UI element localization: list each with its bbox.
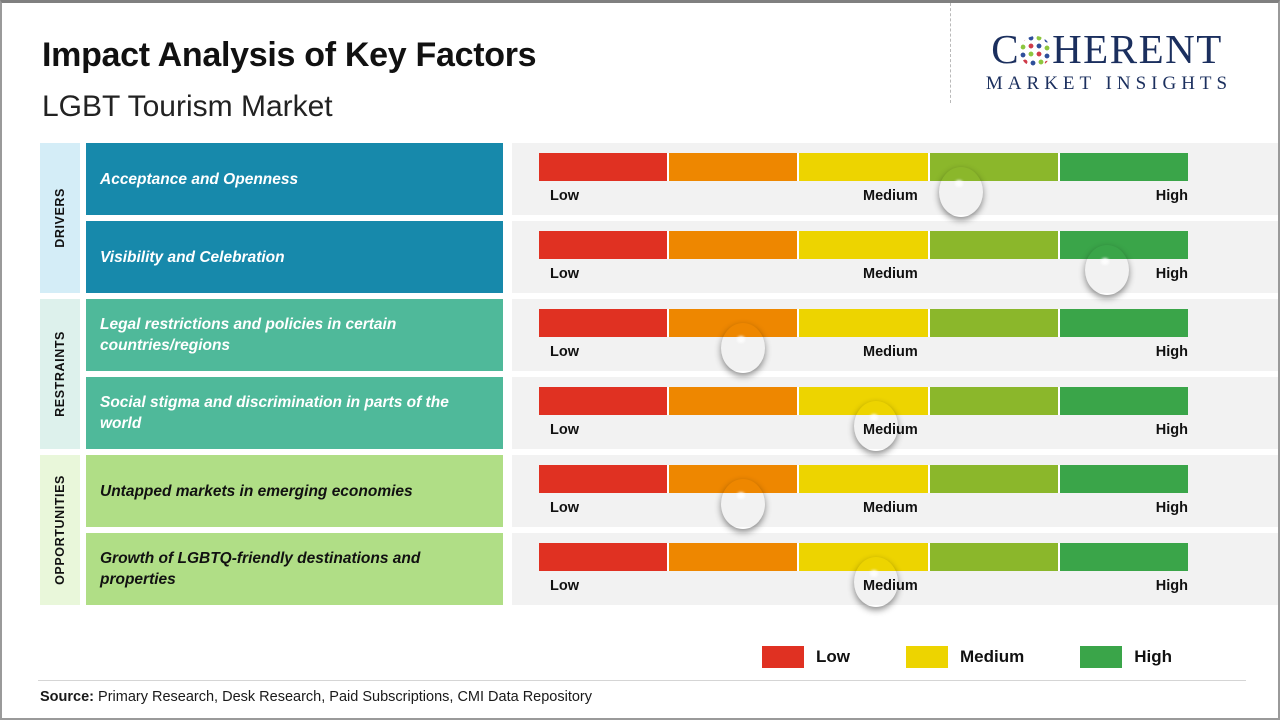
- scale-label-high: High: [1156, 578, 1188, 594]
- gauge-scale-labels: Low Medium High: [539, 500, 1239, 520]
- page-subtitle: LGBT Tourism Market: [42, 90, 333, 124]
- impact-matrix: DRIVERS Acceptance and Openness: [2, 143, 1278, 611]
- legend-label-high: High: [1134, 647, 1172, 667]
- gauge-scale-labels: Low Medium High: [539, 188, 1239, 208]
- impact-gauge: Low Medium High: [512, 299, 1278, 371]
- scale-label-low: Low: [550, 422, 579, 438]
- gauge-segment-low: [539, 465, 669, 493]
- gauge-bar: [539, 465, 1188, 493]
- logo-divider: [950, 3, 951, 103]
- scale-label-high: High: [1156, 500, 1188, 516]
- impact-gauge: Low Medium High: [512, 533, 1278, 605]
- header: Impact Analysis of Key Factors LGBT Tour…: [2, 3, 1278, 133]
- gauge-scale-labels: Low Medium High: [539, 266, 1239, 286]
- impact-gauge: Low Medium High: [512, 377, 1278, 449]
- group-label-text: OPPORTUNITIES: [53, 475, 67, 585]
- gauge-segment-medhigh: [930, 543, 1060, 571]
- scale-label-high: High: [1156, 422, 1188, 438]
- gauge-segment-low: [539, 543, 669, 571]
- scale-label-low: Low: [550, 188, 579, 204]
- factor-row: Social stigma and discrimination in part…: [86, 377, 1278, 449]
- factor-label: Untapped markets in emerging economies: [100, 481, 413, 502]
- group-label-text: RESTRAINTS: [53, 331, 67, 417]
- legend-swatch-low: [762, 646, 804, 668]
- legend-item-medium: Medium: [906, 646, 1024, 668]
- impact-gauge: Low Medium High: [512, 221, 1278, 293]
- factor-row: Untapped markets in emerging economies L…: [86, 455, 1278, 527]
- factor-box[interactable]: Growth of LGBTQ-friendly destinations an…: [86, 533, 503, 605]
- scale-label-high: High: [1156, 266, 1188, 282]
- gauge-segment-lowmed: [669, 231, 799, 259]
- impact-marker[interactable]: [721, 479, 765, 529]
- factor-box[interactable]: Social stigma and discrimination in part…: [86, 377, 503, 449]
- logo-letter-c: C: [991, 27, 1020, 71]
- legend-item-high: High: [1080, 646, 1172, 668]
- group-label-restraints: RESTRAINTS: [40, 299, 80, 449]
- footer-divider: [38, 680, 1246, 681]
- impact-marker[interactable]: [939, 167, 983, 217]
- group-label-opportunities: OPPORTUNITIES: [40, 455, 80, 605]
- logo-tagline: MARKET INSIGHTS: [958, 73, 1256, 95]
- factor-box[interactable]: Visibility and Celebration: [86, 221, 503, 293]
- source-note: Source: Primary Research, Desk Research,…: [40, 689, 592, 705]
- logo-word-rest: HERENT: [1052, 27, 1223, 71]
- scale-label-low: Low: [550, 266, 579, 282]
- legend-item-low: Low: [762, 646, 850, 668]
- gauge-segment-lowmed: [669, 543, 799, 571]
- factor-label: Visibility and Celebration: [100, 247, 285, 268]
- impact-marker[interactable]: [854, 557, 898, 607]
- group-opportunities: OPPORTUNITIES Untapped markets in emergi…: [2, 455, 1278, 605]
- logo-wordmark: C HERENT: [958, 27, 1256, 71]
- legend-label-low: Low: [816, 647, 850, 667]
- page-title: Impact Analysis of Key Factors: [42, 36, 536, 75]
- impact-marker[interactable]: [854, 401, 898, 451]
- gauge-segment-medhigh: [930, 465, 1060, 493]
- gauge-segment-medhigh: [930, 387, 1060, 415]
- factor-row: Growth of LGBTQ-friendly destinations an…: [86, 533, 1278, 605]
- scale-label-medium: Medium: [863, 266, 918, 282]
- factor-label: Legal restrictions and policies in certa…: [100, 314, 489, 356]
- gauge-segment-high: [1060, 465, 1188, 493]
- source-text: Primary Research, Desk Research, Paid Su…: [94, 689, 592, 705]
- factor-box[interactable]: Untapped markets in emerging economies: [86, 455, 503, 527]
- impact-gauge: Low Medium High: [512, 455, 1278, 527]
- source-label: Source:: [40, 689, 94, 705]
- gauge-bar: [539, 153, 1188, 181]
- legend-label-medium: Medium: [960, 647, 1024, 667]
- scale-label-medium: Medium: [863, 344, 918, 360]
- factor-box[interactable]: Legal restrictions and policies in certa…: [86, 299, 503, 371]
- scale-label-high: High: [1156, 188, 1188, 204]
- impact-marker[interactable]: [721, 323, 765, 373]
- impact-marker[interactable]: [1085, 245, 1129, 295]
- legend: Low Medium High: [762, 646, 1172, 668]
- group-label-drivers: DRIVERS: [40, 143, 80, 293]
- gauge-scale-labels: Low Medium High: [539, 344, 1239, 364]
- gauge-segment-lowmed: [669, 387, 799, 415]
- gauge-segment-low: [539, 231, 669, 259]
- gauge-segment-low: [539, 309, 669, 337]
- gauge-segment-medium: [799, 231, 929, 259]
- gauge-segment-medhigh: [930, 309, 1060, 337]
- gauge-segment-medium: [799, 465, 929, 493]
- gauge-segment-low: [539, 153, 669, 181]
- company-logo: C HERENT MARKET INSIGHTS: [958, 27, 1256, 95]
- globe-icon: [1020, 36, 1051, 67]
- factor-row: Acceptance and Openness Low Medium Hi: [86, 143, 1278, 215]
- impact-gauge: Low Medium High: [512, 143, 1278, 215]
- gauge-segment-high: [1060, 153, 1188, 181]
- gauge-segment-low: [539, 387, 669, 415]
- factor-row: Visibility and Celebration Low Medium: [86, 221, 1278, 293]
- gauge-segment-medhigh: [930, 231, 1060, 259]
- scale-label-high: High: [1156, 344, 1188, 360]
- gauge-segment-high: [1060, 387, 1188, 415]
- scale-label-medium: Medium: [863, 188, 918, 204]
- factor-label: Growth of LGBTQ-friendly destinations an…: [100, 548, 489, 590]
- factor-box[interactable]: Acceptance and Openness: [86, 143, 503, 215]
- group-label-text: DRIVERS: [53, 188, 67, 248]
- scale-label-low: Low: [550, 578, 579, 594]
- factor-row: Legal restrictions and policies in certa…: [86, 299, 1278, 371]
- legend-swatch-high: [1080, 646, 1122, 668]
- scale-label-medium: Medium: [863, 500, 918, 516]
- gauge-segment-medium: [799, 309, 929, 337]
- gauge-bar: [539, 309, 1188, 337]
- gauge-segment-lowmed: [669, 153, 799, 181]
- group-drivers: DRIVERS Acceptance and Openness: [2, 143, 1278, 293]
- group-restraints: RESTRAINTS Legal restrictions and polici…: [2, 299, 1278, 449]
- factor-label: Acceptance and Openness: [100, 169, 298, 190]
- scale-label-low: Low: [550, 500, 579, 516]
- legend-swatch-medium: [906, 646, 948, 668]
- factor-label: Social stigma and discrimination in part…: [100, 392, 489, 434]
- gauge-segment-high: [1060, 309, 1188, 337]
- gauge-segment-high: [1060, 543, 1188, 571]
- gauge-segment-medium: [799, 153, 929, 181]
- scale-label-low: Low: [550, 344, 579, 360]
